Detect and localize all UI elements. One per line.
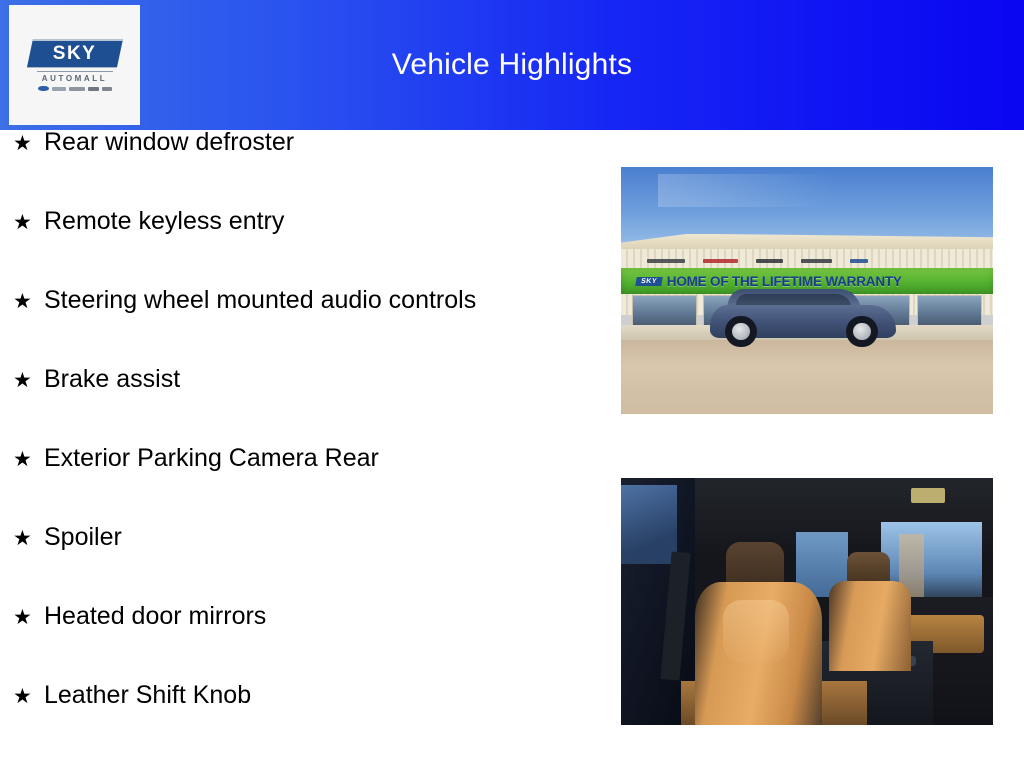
brand-mark-ram-icon xyxy=(102,87,112,91)
interior-vehicle-photo xyxy=(621,478,993,725)
dealer-logo: SKY AUTOMALL xyxy=(9,5,140,125)
feature-list: ★ Rear window defroster ★ Remote keyless… xyxy=(0,130,610,762)
building-brand-signs xyxy=(621,255,993,267)
list-item: ★ Spoiler xyxy=(0,525,610,604)
list-item: ★ Heated door mirrors xyxy=(0,604,610,683)
left-window-glass xyxy=(621,485,677,564)
logo-divider xyxy=(37,71,113,72)
page-title: Vehicle Highlights xyxy=(0,0,1024,130)
star-bullet-icon: ★ xyxy=(13,212,44,233)
star-bullet-icon: ★ xyxy=(13,370,44,391)
list-item: ★ Rear window defroster xyxy=(0,130,610,209)
rear-wheel xyxy=(846,316,878,348)
feature-label: Remote keyless entry xyxy=(44,209,284,234)
sign-sky-icon xyxy=(850,259,867,263)
vehicle-highlights-slide: SKY AUTOMALL Vehicle Highlights ★ Rear xyxy=(0,0,1024,768)
exterior-vehicle-photo: SKY HOME OF THE LIFETIME WARRANTY xyxy=(621,167,993,414)
banner-sky-badge: SKY xyxy=(635,277,662,286)
feature-label: Spoiler xyxy=(44,525,122,550)
passenger-seatback xyxy=(829,581,911,671)
front-wheel xyxy=(725,316,757,348)
banner-text: HOME OF THE LIFETIME WARRANTY xyxy=(667,274,902,289)
slide-body: ★ Rear window defroster ★ Remote keyless… xyxy=(0,130,1024,768)
list-item: ★ Brake assist xyxy=(0,367,610,446)
brand-mark-chrysler-icon xyxy=(52,87,66,91)
feature-label: Exterior Parking Camera Rear xyxy=(44,446,379,471)
sky-logo-mark: SKY xyxy=(27,39,123,67)
feature-label: Leather Shift Knob xyxy=(44,683,251,708)
oem-brand-marks xyxy=(38,86,112,91)
sunroof-control xyxy=(911,488,944,503)
brand-mark-ford-icon xyxy=(38,86,49,91)
window-pane xyxy=(632,295,696,327)
vehicle-silhouette xyxy=(710,291,896,348)
brand-mark-jeep-icon xyxy=(88,87,99,91)
feature-label: Rear window defroster xyxy=(44,130,294,155)
driver-seatback xyxy=(695,582,821,725)
star-bullet-icon: ★ xyxy=(13,133,44,154)
sign-dodge-icon xyxy=(703,259,738,263)
star-bullet-icon: ★ xyxy=(13,686,44,707)
sign-ram-icon xyxy=(801,259,832,263)
list-item: ★ Remote keyless entry xyxy=(0,209,610,288)
window-pane xyxy=(917,295,981,327)
sky-logo-text: SKY xyxy=(52,43,96,65)
list-item: ★ Exterior Parking Camera Rear xyxy=(0,446,610,525)
slide-header: SKY AUTOMALL Vehicle Highlights xyxy=(0,0,1024,130)
driver-seat xyxy=(695,542,821,725)
sign-chrysler-icon xyxy=(647,259,685,263)
list-item: ★ Steering wheel mounted audio controls xyxy=(0,288,610,367)
list-item: ★ Leather Shift Knob xyxy=(0,683,610,762)
star-bullet-icon: ★ xyxy=(13,449,44,470)
feature-label: Brake assist xyxy=(44,367,180,392)
feature-label: Heated door mirrors xyxy=(44,604,266,629)
star-bullet-icon: ★ xyxy=(13,291,44,312)
sign-jeep-icon xyxy=(756,259,784,263)
feature-label: Steering wheel mounted audio controls xyxy=(44,288,476,313)
star-bullet-icon: ★ xyxy=(13,528,44,549)
logo-subtitle: AUTOMALL xyxy=(42,74,108,83)
star-bullet-icon: ★ xyxy=(13,607,44,628)
parking-lot-ground xyxy=(621,340,993,414)
passenger-seat xyxy=(829,552,911,671)
brand-mark-dodge-icon xyxy=(69,87,85,91)
